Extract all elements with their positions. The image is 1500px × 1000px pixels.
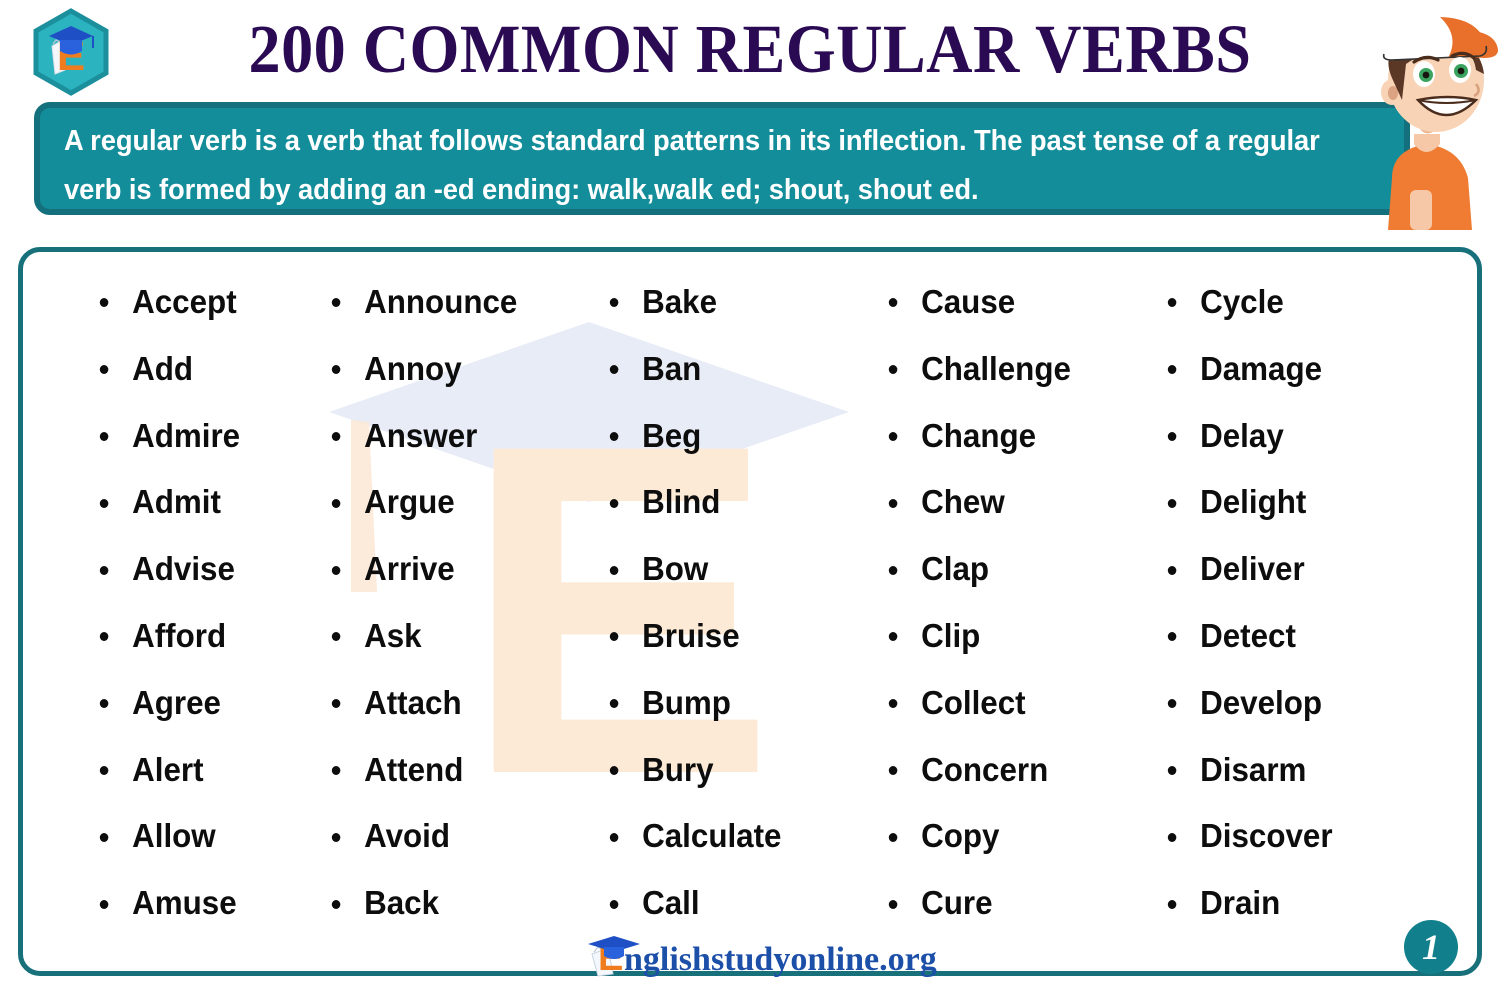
list-item: Beg [606, 403, 855, 470]
list-item: Accept [96, 269, 297, 336]
list-item: Copy [885, 803, 1135, 870]
list-item: Ban [606, 336, 855, 403]
list-item: Calculate [606, 803, 855, 870]
list-item: Afford [96, 603, 297, 670]
list-item: Disarm [1164, 737, 1415, 804]
list-item: Announce [328, 269, 575, 336]
list-item: Admire [96, 403, 297, 470]
list-item: Detect [1164, 603, 1415, 670]
list-item: Concern [885, 737, 1135, 804]
list-item: Add [96, 336, 297, 403]
page-title: 200 COMMON REGULAR VERBS [192, 7, 1308, 91]
list-item: Advise [96, 536, 297, 603]
list-item: Bump [606, 670, 855, 737]
list-item: Attach [328, 670, 575, 737]
list-item: Ask [328, 603, 575, 670]
list-item: Bow [606, 536, 855, 603]
list-item: Amuse [96, 870, 297, 937]
verb-column-1: Accept Add Admire Admit Advise Afford Ag… [23, 269, 308, 971]
list-item: Agree [96, 670, 297, 737]
list-item: Cause [885, 269, 1135, 336]
page-number-text: 1 [1404, 920, 1458, 974]
brand-hexagon-logo-icon: E [31, 8, 111, 96]
verb-column-5: Cycle Damage Delay Delight Deliver Detec… [1148, 269, 1428, 971]
verb-columns: Accept Add Admire Admit Advise Afford Ag… [23, 252, 1477, 971]
list-item: Bruise [606, 603, 855, 670]
list-item: Develop [1164, 670, 1415, 737]
site-logo: E nglishstudyonline.org [578, 926, 938, 978]
list-item: Cycle [1164, 269, 1415, 336]
list-item: Challenge [885, 336, 1135, 403]
header: E 200 COMMON REGULAR VERBS [0, 0, 1500, 96]
list-item: Annoy [328, 336, 575, 403]
verb-column-4: Cause Challenge Change Chew Clap Clip Co… [868, 269, 1148, 971]
list-item: Damage [1164, 336, 1415, 403]
list-item: Alert [96, 737, 297, 804]
list-item: Clip [885, 603, 1135, 670]
list-item: Collect [885, 670, 1135, 737]
list-item: Admit [96, 469, 297, 536]
infographic-page: E 200 COMMON REGULAR VERBS A regular ver… [0, 0, 1500, 1000]
list-item: Attend [328, 737, 575, 804]
list-item: Deliver [1164, 536, 1415, 603]
list-item: Arrive [328, 536, 575, 603]
description-text: A regular verb is a verb that follows st… [64, 117, 1325, 215]
list-item: Discover [1164, 803, 1415, 870]
verb-column-2: Announce Annoy Answer Argue Arrive Ask A… [308, 269, 588, 971]
list-item: Argue [328, 469, 575, 536]
list-item: Clap [885, 536, 1135, 603]
list-item: Answer [328, 403, 575, 470]
list-item: Delay [1164, 403, 1415, 470]
verb-list-card: E Accept Add Admire Admit Advise Afford … [18, 247, 1482, 976]
list-item: Blind [606, 469, 855, 536]
list-item: Avoid [328, 803, 575, 870]
svg-text:nglishstudyonline.org: nglishstudyonline.org [624, 941, 937, 978]
list-item: Drain [1164, 870, 1415, 937]
list-item: Back [328, 870, 575, 937]
list-item: Delight [1164, 469, 1415, 536]
list-item: Change [885, 403, 1135, 470]
list-item: Bake [606, 269, 855, 336]
page-number-badge: 1 [1404, 920, 1458, 974]
list-item: Allow [96, 803, 297, 870]
list-item: Bury [606, 737, 855, 804]
list-item: Chew [885, 469, 1135, 536]
verb-column-3: Bake Ban Beg Blind Bow Bruise Bump Bury … [588, 269, 868, 971]
mascot-boy-illustration [1348, 8, 1500, 230]
description-banner: A regular verb is a verb that follows st… [34, 102, 1410, 215]
